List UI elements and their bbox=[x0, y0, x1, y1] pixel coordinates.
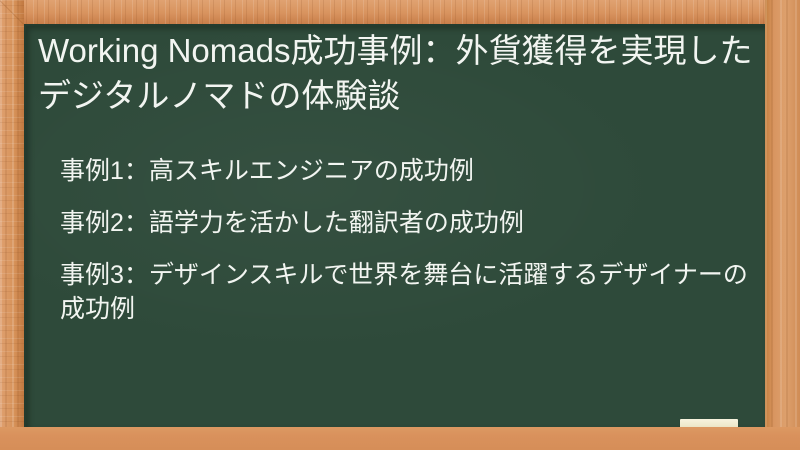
list-item: 事例2：語学力を活かした翻訳者の成功例 bbox=[60, 206, 760, 240]
chalkboard-frame: Working Nomads成功事例：外貨獲得を実現したデジタルノマドの体験談 … bbox=[0, 0, 800, 450]
case-study-list: 事例1：高スキルエンジニアの成功例 事例2：語学力を活かした翻訳者の成功例 事例… bbox=[60, 154, 760, 326]
list-item: 事例3：デザインスキルで世界を舞台に活躍するデザイナーの成功例 bbox=[60, 258, 760, 326]
chalkboard-surface: Working Nomads成功事例：外貨獲得を実現したデジタルノマドの体験談 … bbox=[24, 24, 765, 427]
page-title: Working Nomads成功事例：外貨獲得を実現したデジタルノマドの体験談 bbox=[38, 28, 765, 118]
wood-frame-right-rail bbox=[765, 0, 800, 450]
wood-frame-top-rail bbox=[0, 0, 800, 24]
list-item: 事例1：高スキルエンジニアの成功例 bbox=[60, 154, 760, 188]
frame-miter-top-left bbox=[0, 0, 24, 25]
wood-frame-left-rail bbox=[0, 0, 24, 450]
wood-frame-bottom-ledge bbox=[0, 427, 800, 450]
chalk-stick-icon bbox=[680, 419, 738, 427]
